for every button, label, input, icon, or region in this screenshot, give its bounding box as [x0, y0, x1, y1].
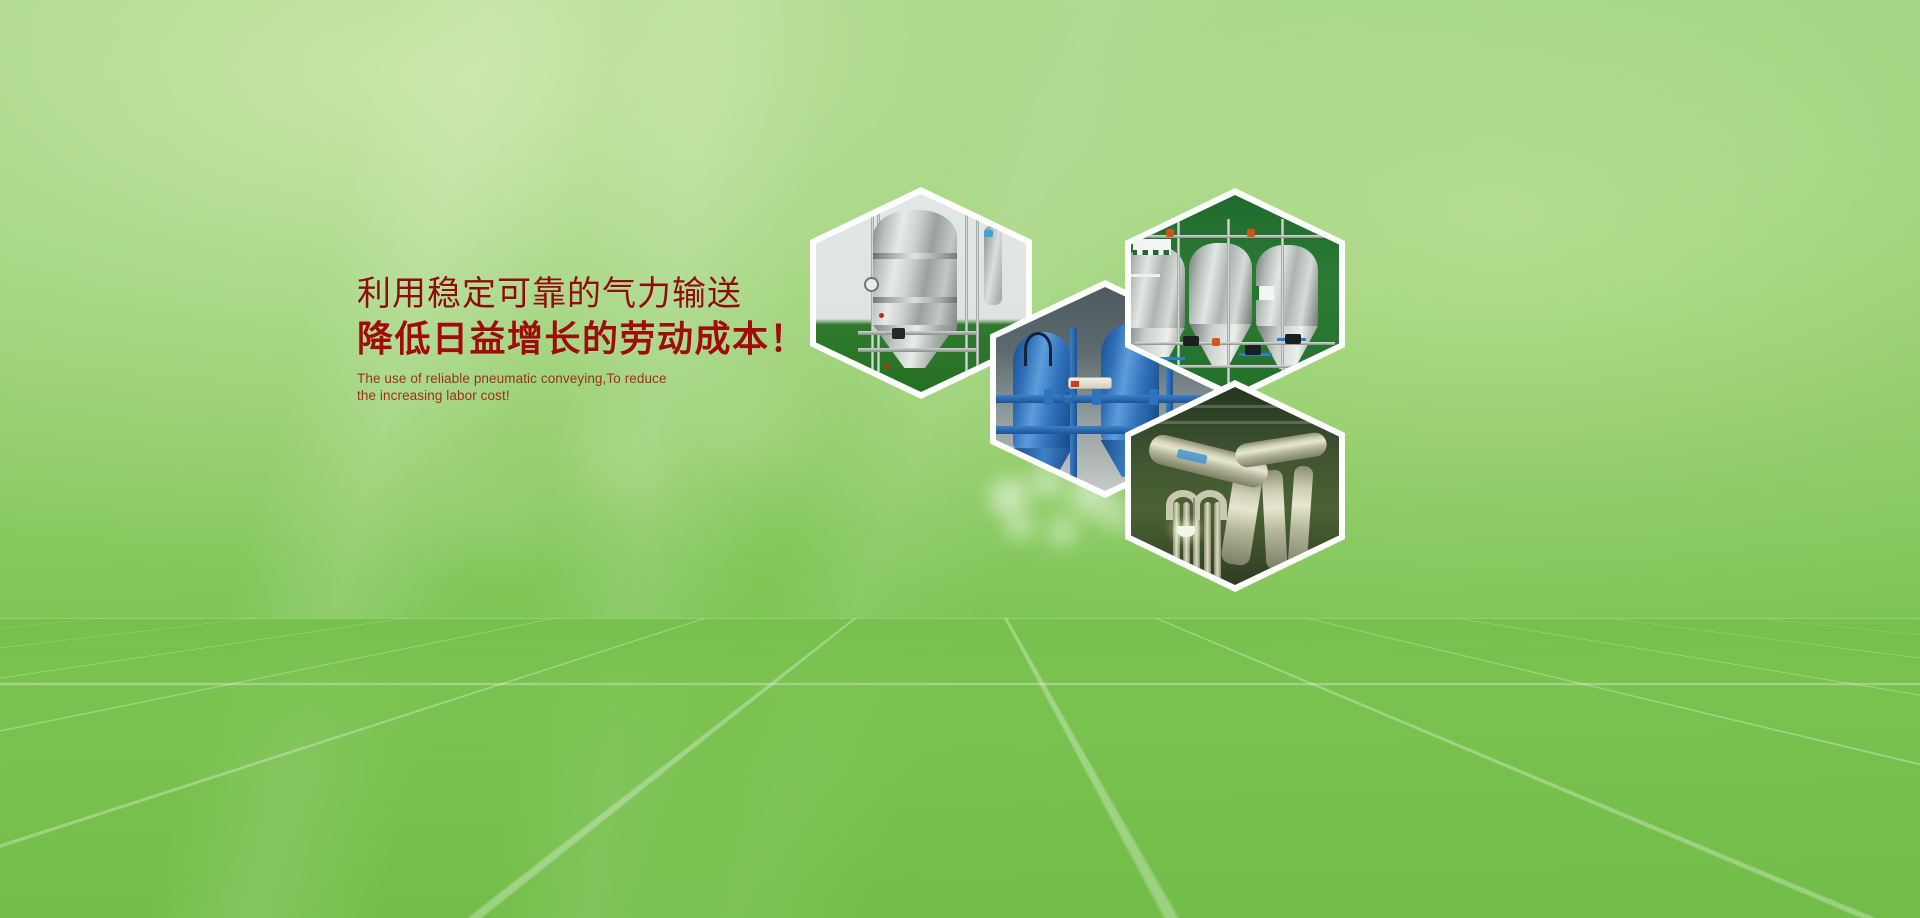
floor-grid-fade [0, 618, 1920, 918]
conveying-pipes-photo [1131, 387, 1339, 585]
perspective-floor-grid [0, 618, 1920, 918]
hexagon-photo-cluster [780, 170, 1360, 590]
hero-banner: 利用稳定可靠的气力输送 降低日益增长的劳动成本！ The use of reli… [0, 0, 1920, 918]
stainless-silos-photo [1131, 195, 1339, 393]
bokeh-light [430, 470, 560, 550]
bokeh-light [560, 418, 680, 498]
